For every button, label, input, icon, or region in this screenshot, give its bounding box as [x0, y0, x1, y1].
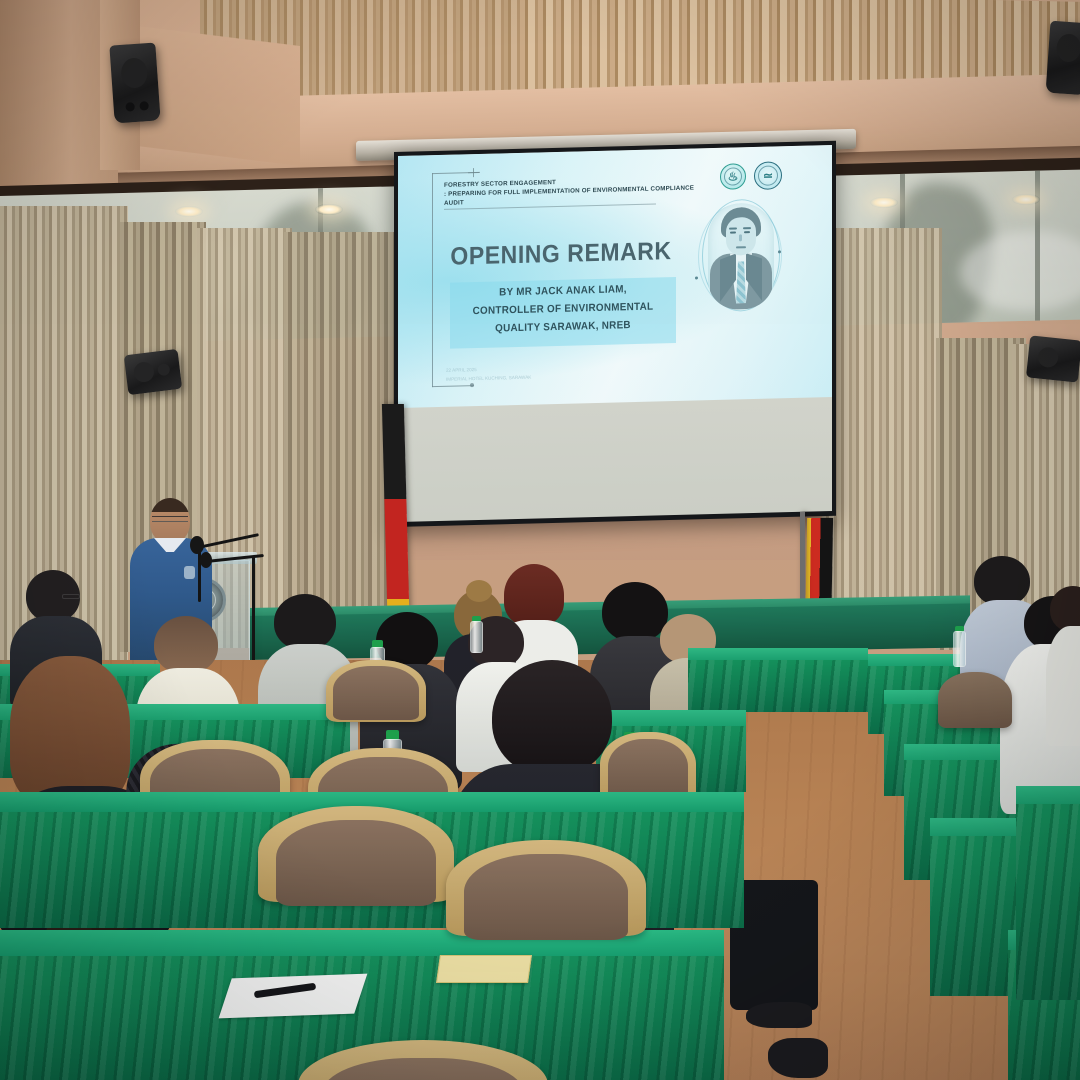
wall-speaker-left-lower	[124, 349, 182, 395]
slide-dot-bottom	[470, 383, 474, 387]
slide-corner-line-bottom	[432, 385, 474, 387]
ceiling-downlight	[175, 206, 203, 217]
ceiling-downlight	[870, 197, 898, 208]
slide-tick-top-cross	[468, 172, 479, 173]
slide-corner-line-vertical	[432, 173, 433, 387]
portrait-nose	[739, 234, 742, 241]
attendee-hair-bun	[466, 580, 492, 602]
table-row3-right	[688, 656, 868, 712]
shoe-on-floor	[768, 1038, 828, 1078]
ceiling-downlight	[1012, 194, 1040, 205]
attendee-head	[154, 616, 218, 674]
attendee-head	[10, 656, 130, 806]
shoe-on-floor	[746, 1002, 812, 1028]
projector-screen-surface: FORESTRY SECTOR ENGAGEMENT : PREPARING F…	[398, 145, 832, 522]
microphone-head-left	[190, 536, 204, 554]
ceiling-downlight	[315, 204, 343, 215]
portrait-brow-left	[729, 227, 737, 229]
attendee-head	[274, 594, 336, 650]
slide-subtitle: BY MR JACK ANAK LIAM, CONTROLLER OF ENVI…	[457, 279, 669, 339]
table-right-foreground-top	[1016, 786, 1080, 804]
bottle-body	[953, 631, 966, 667]
attendee-head	[974, 556, 1030, 606]
table-row3-right-top	[688, 648, 868, 660]
nreb-logo-icon: ♨	[720, 163, 746, 190]
wall-speaker-right-lower	[1026, 335, 1080, 382]
logo-glyph: ≃	[755, 162, 781, 189]
table-right-foreground	[1016, 800, 1080, 1000]
portrait-frame	[708, 202, 774, 310]
chair-backrest-pad	[276, 820, 436, 906]
chair-frame	[938, 672, 1012, 728]
portrait-accent-dot	[695, 276, 698, 279]
attendee-head	[602, 582, 668, 642]
speaker-badge	[184, 566, 195, 579]
attendee-head	[504, 564, 564, 626]
chair-backrest-pad	[333, 666, 419, 720]
agency-logo-icon: ≃	[754, 161, 782, 190]
microphone-head-right	[200, 552, 212, 568]
curtain-center-right	[822, 228, 942, 646]
portrait-brow-right	[743, 227, 751, 229]
wall-speaker-top-right	[1046, 21, 1080, 96]
microphone-stand-right	[252, 556, 255, 664]
slide-portrait	[698, 198, 784, 316]
table-row2-right-top	[596, 710, 746, 726]
bottle-body	[470, 621, 483, 653]
conference-hall-photo: FORESTRY SECTOR ENGAGEMENT : PREPARING F…	[0, 0, 1080, 1080]
slide-footer: 22 APRIL 2025 IMPERIAL HOTEL KUCHING, SA…	[446, 363, 596, 384]
attendee-head	[492, 660, 612, 776]
speaker-glasses	[152, 516, 188, 522]
presentation-slide: FORESTRY SECTOR ENGAGEMENT : PREPARING F…	[398, 145, 832, 408]
chair-backrest-pad	[464, 854, 628, 940]
yellow-notepad	[436, 955, 532, 983]
portrait-mouth	[736, 246, 746, 248]
slide-title: OPENING REMARK	[440, 237, 681, 272]
wall-speaker-top-left	[109, 42, 160, 123]
attendee-torso	[1046, 626, 1080, 746]
paper-sheet	[219, 974, 368, 1019]
logo-glyph: ♨	[721, 164, 745, 189]
attendee-glasses	[62, 594, 80, 599]
slide-header: FORESTRY SECTOR ENGAGEMENT : PREPARING F…	[444, 175, 699, 208]
